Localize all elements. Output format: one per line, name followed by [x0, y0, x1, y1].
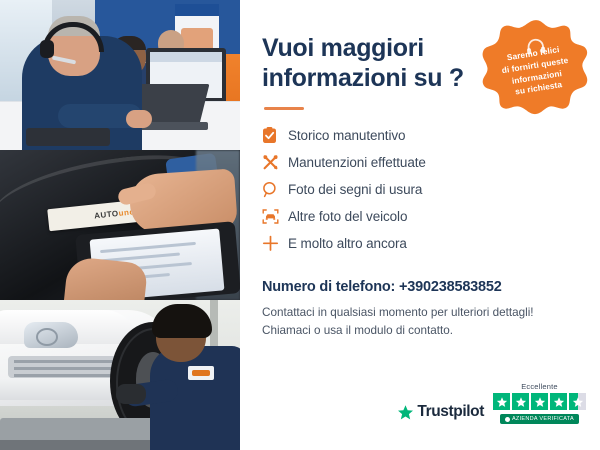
feature-label: Manutenzioni effettuate: [288, 155, 426, 170]
star-half: [569, 393, 586, 410]
contact-line-1: Contattaci in qualsiasi momento per ulte…: [262, 304, 578, 322]
verified-label: AZIENDA VERIFICATA: [512, 416, 574, 422]
contact-line-2: Chiamaci o usa il modulo di contatto.: [262, 322, 578, 340]
star-filled: [531, 393, 548, 410]
photo-column: AUTOuncle: [0, 0, 240, 450]
trustpilot-widget[interactable]: Trustpilot Eccellente: [397, 382, 586, 424]
feature-label: Storico manutentivo: [288, 128, 405, 143]
list-item: E molto altro ancora: [262, 230, 578, 257]
content-panel: Vuoi maggiori informazioni su ? Storico …: [240, 0, 600, 450]
clipboard-check-icon: [262, 126, 288, 146]
star-rating: [493, 393, 586, 410]
feature-label: E molto altro ancora: [288, 236, 407, 251]
feature-list: Storico manutentivo Manutenzioni effettu…: [262, 122, 578, 257]
trustpilot-rating: Eccellente: [493, 382, 586, 424]
phone-number[interactable]: +390238583852: [399, 279, 502, 295]
advert-banner: AUTOuncle Vuoi maggiori informazioni su …: [0, 0, 600, 450]
title-divider: [264, 107, 304, 110]
car-scan-icon: [262, 207, 288, 227]
plus-icon: [262, 234, 288, 254]
page-title: Vuoi maggiori informazioni su ?: [262, 34, 477, 93]
trustpilot-star-icon: [397, 404, 414, 421]
star-filled: [493, 393, 510, 410]
list-item: Foto dei segni di usura: [262, 176, 578, 203]
star-filled: [550, 393, 567, 410]
verified-check-icon: [505, 417, 510, 422]
phone-label: Numero di telefono:: [262, 279, 395, 295]
phone-line: Numero di telefono: +390238583852: [262, 279, 578, 295]
verified-badge: AZIENDA VERIFICATA: [500, 414, 579, 424]
feature-label: Foto dei segni di usura: [288, 182, 422, 197]
rating-label: Eccellente: [521, 382, 558, 391]
magnifier-icon: [262, 180, 288, 200]
contact-text: Contattaci in qualsiasi momento per ulte…: [262, 304, 578, 340]
call-center-agent-photo: [0, 0, 240, 150]
star-filled: [512, 393, 529, 410]
list-item: Storico manutentivo: [262, 122, 578, 149]
callout-badge: Saremo felici di fornirti queste informa…: [482, 18, 590, 126]
trustpilot-logo: Trustpilot: [397, 403, 484, 424]
tools-cross-icon: [262, 153, 288, 173]
vehicle-inspection-photo: AUTOuncle: [0, 150, 240, 300]
list-item: Altre foto del veicolo: [262, 203, 578, 230]
trustpilot-name: Trustpilot: [417, 403, 484, 421]
feature-label: Altre foto del veicolo: [288, 209, 407, 224]
mechanic-tire-photo: [0, 300, 240, 450]
list-item: Manutenzioni effettuate: [262, 149, 578, 176]
